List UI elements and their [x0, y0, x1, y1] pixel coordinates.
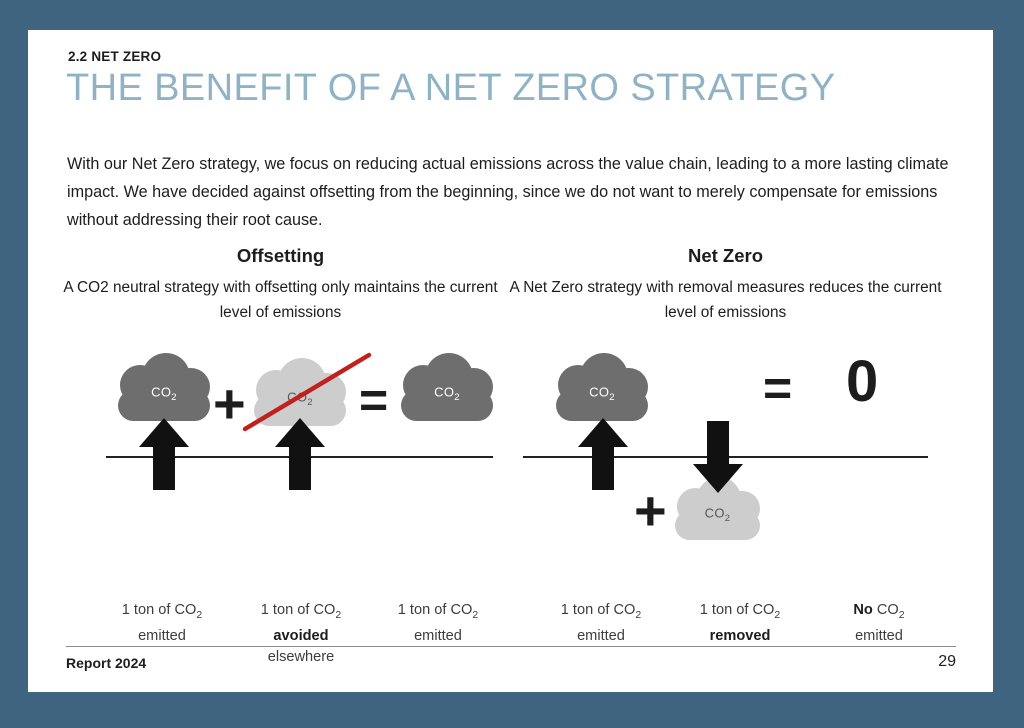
cloud-label: CO2 [118, 384, 210, 403]
plus-operator: + [634, 483, 667, 539]
cloud-label: CO2 [675, 505, 760, 524]
red-strikethrough-icon [241, 351, 373, 433]
up-arrow-emitted [139, 418, 189, 490]
caption-emitted: 1 ton of CO2 emitted [526, 600, 676, 647]
up-arrow-emitted [578, 418, 628, 490]
page-title: THE BENEFIT OF A NET ZERO STRATEGY [66, 67, 836, 110]
panel-offsetting-title: Offsetting [63, 245, 498, 267]
diagram-offsetting: CO2 + CO2 = [63, 343, 498, 613]
cloud-result: CO2 [401, 365, 493, 421]
cloud-removed: CO2 [675, 488, 760, 540]
caption-removed: 1 ton of CO2 removed [665, 600, 815, 647]
page-number: 29 [938, 653, 956, 671]
cloud-label: CO2 [556, 384, 648, 403]
footer-divider [66, 646, 956, 647]
section-eyebrow: 2.2 NET ZERO [68, 49, 161, 64]
down-arrow-removed [693, 421, 743, 493]
zero-result: 0 [846, 353, 878, 411]
caption-none: No CO2 emitted [804, 600, 954, 647]
panel-offsetting-subtitle: A CO2 neutral strategy with offsetting o… [63, 275, 498, 325]
cloud-label: CO2 [401, 384, 493, 403]
panel-offsetting: Offsetting A CO2 neutral strategy with o… [63, 245, 498, 613]
slide: 2.2 NET ZERO THE BENEFIT OF A NET ZERO S… [28, 30, 993, 692]
equals-operator: = [763, 363, 792, 413]
caption-result: 1 ton of CO2 emitted [363, 600, 513, 647]
intro-paragraph: With our Net Zero strategy, we focus on … [67, 150, 957, 234]
cloud-emitted: CO2 [118, 365, 210, 421]
cloud-emitted: CO2 [556, 365, 648, 421]
panel-net-zero: Net Zero A Net Zero strategy with remova… [508, 245, 943, 613]
caption-avoided: 1 ton of CO2 avoided elsewhere [226, 600, 376, 668]
panel-net-zero-subtitle: A Net Zero strategy with removal measure… [508, 275, 943, 325]
caption-emitted: 1 ton of CO2 emitted [87, 600, 237, 647]
diagram-net-zero: CO2 + CO2 [508, 343, 943, 613]
panel-net-zero-title: Net Zero [508, 245, 943, 267]
footer-report-label: Report 2024 [66, 655, 146, 671]
